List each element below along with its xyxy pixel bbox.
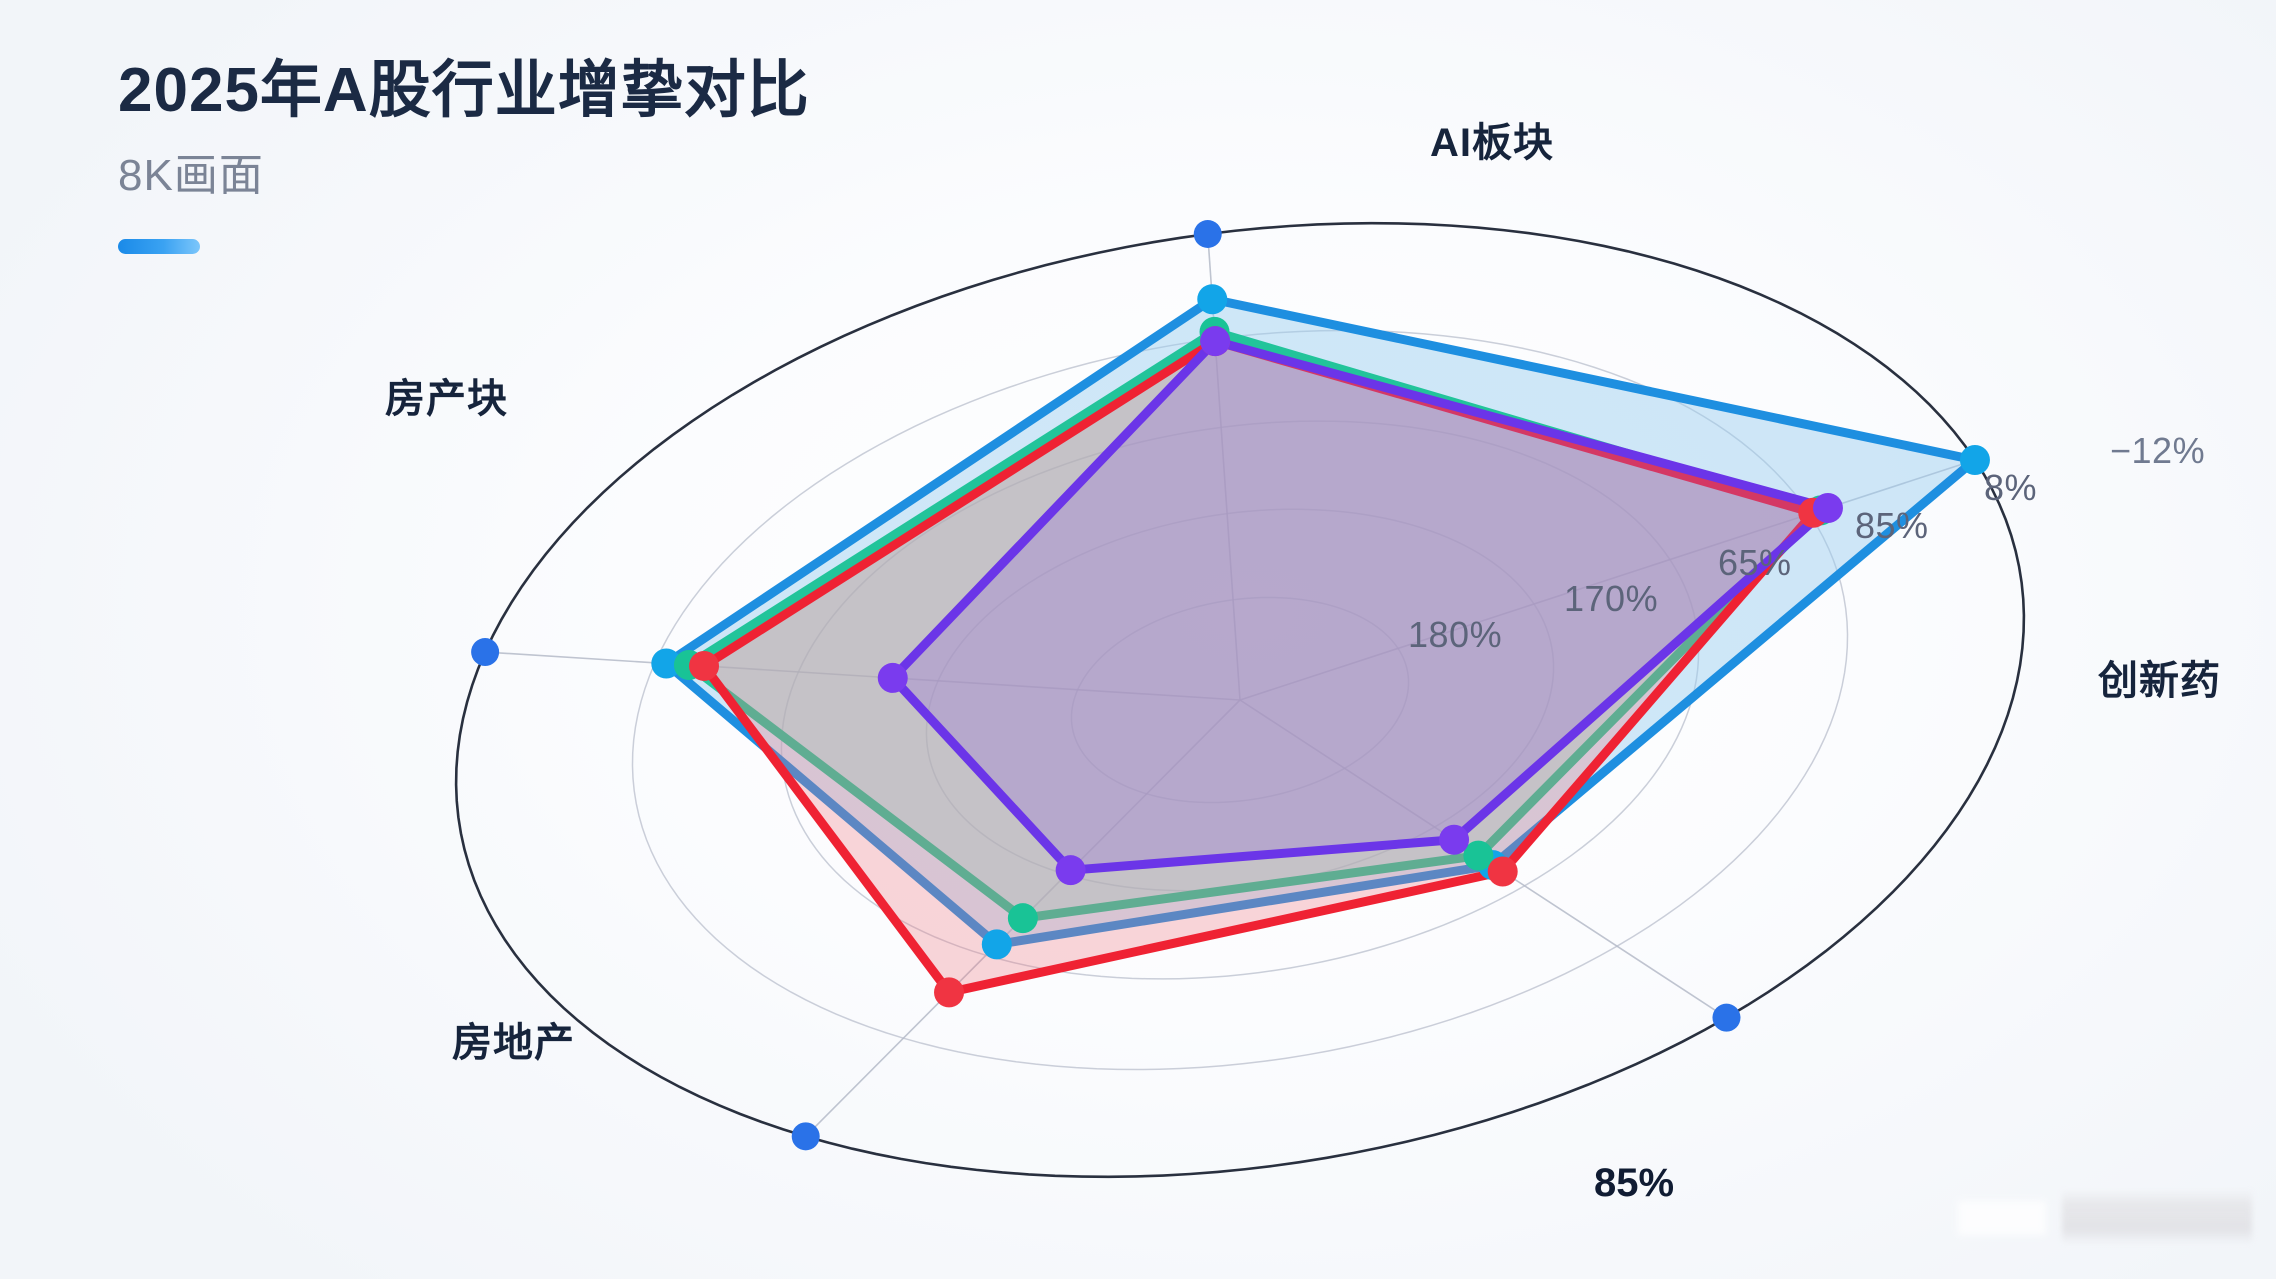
ring-label-65: 65% bbox=[1718, 542, 1792, 584]
chart-canvas: 2025年A股行业增挚对比 8K画面 AI板块 创新药 85% 房地产 房产块 … bbox=[0, 0, 2276, 1279]
radar-area-layer bbox=[666, 299, 1975, 992]
ring-label-neg12: −12% bbox=[2110, 430, 2205, 472]
axis-label-property-block: 房产块 bbox=[385, 366, 508, 424]
ring-label-170: 170% bbox=[1564, 578, 1658, 620]
radar-chart-svg bbox=[0, 0, 2276, 1279]
axis-label-real-estate: 房地产 bbox=[452, 1010, 575, 1068]
axis-label-ai: AI板块 bbox=[1430, 110, 1554, 168]
watermark bbox=[2062, 1189, 2252, 1245]
ring-label-180: 180% bbox=[1408, 614, 1502, 656]
axis-label-bottom-value: 85% bbox=[1594, 1161, 1674, 1206]
ring-label-8: 8% bbox=[1984, 467, 2037, 509]
ring-label-85: 85% bbox=[1855, 505, 1929, 547]
axis-label-innovative-drug: 创新药 bbox=[2098, 648, 2221, 706]
